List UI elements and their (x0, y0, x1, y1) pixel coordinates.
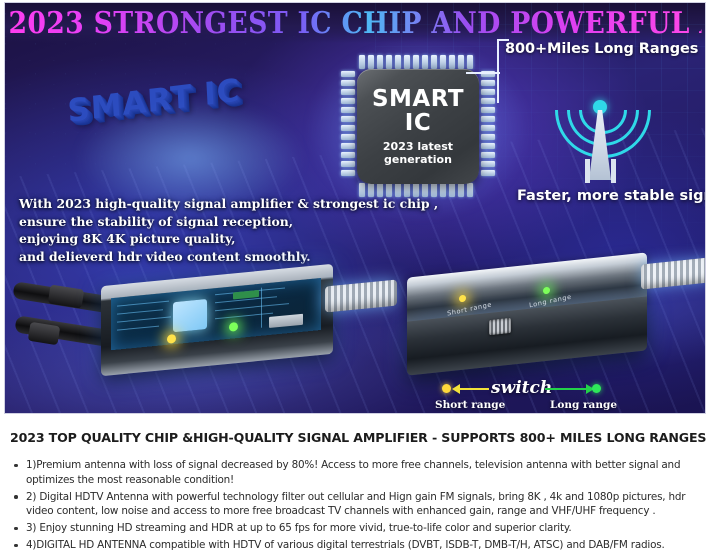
paragraph-line-4: and delieverd hdr video content smoothly… (19, 248, 419, 266)
circuit-board (111, 278, 321, 350)
switch-legend-title: switch (491, 378, 552, 398)
chip-pin-left (341, 143, 355, 149)
chip-pin-right (481, 98, 495, 104)
amplifier-device-with-switch: Short range Long range (403, 259, 703, 374)
chip-pin-top (422, 55, 428, 69)
chip-pin-right (481, 143, 495, 149)
legend-arrow-short-range (455, 388, 489, 390)
pcb-trace (261, 288, 262, 328)
chip-pin-top (458, 55, 464, 69)
f-type-coax-connector (641, 257, 706, 289)
chip-pin-top (440, 55, 446, 69)
chip-pin-top (386, 55, 392, 69)
chip-pin-bottom (467, 183, 473, 197)
status-led-yellow (167, 334, 176, 344)
hero-banner-image: 2023 STRONGEST IC CHIP AND POWERFUL AMPL… (4, 2, 706, 414)
chip-pin-right (481, 107, 495, 113)
chip-pin-right (481, 134, 495, 140)
miles-range-callout: 800+Miles Long Ranges (505, 41, 698, 57)
antenna-leg-left (585, 159, 590, 183)
chip-label-generation: generation (384, 153, 452, 166)
paragraph-line-3: enjoying 8K 4K picture quality, (19, 230, 419, 248)
chip-pin-right (481, 161, 495, 167)
legend-label-short-range: Short range (435, 399, 505, 411)
pcb-trace (117, 301, 169, 307)
smd-component-silver (269, 314, 303, 328)
pcb-trace (215, 313, 273, 320)
chip-pin-left (341, 89, 355, 95)
chip-pin-right (481, 125, 495, 131)
chip-pin-bottom (458, 183, 464, 197)
chip-body: SMART IC 2023 latest generation (357, 69, 479, 184)
list-item: 4)DIGITAL HD ANTENNA compatible with HDT… (26, 538, 696, 553)
chip-pin-left (341, 134, 355, 140)
amplifier-device-cutaway (13, 265, 403, 385)
chip-pin-right (481, 116, 495, 122)
amplifier-housing (101, 264, 333, 376)
legend-arrow-long-range (545, 388, 589, 390)
chip-pin-right (481, 170, 495, 176)
callout-bracket-leader (466, 72, 500, 74)
chip-pin-left (341, 170, 355, 176)
chip-pin-bottom (422, 183, 428, 197)
chip-label-ic: IC (405, 111, 431, 135)
chip-pin-top (467, 55, 473, 69)
chip-pin-left (341, 152, 355, 158)
f-type-coax-connector (325, 280, 397, 313)
list-item: 1)Premium antenna with loss of signal de… (26, 458, 696, 487)
legend-label-long-range: Long range (550, 399, 617, 411)
smart-ic-chip-graphic: SMART IC 2023 latest generation (335, 53, 500, 198)
legend-arrowhead-short-range-icon (452, 384, 460, 394)
chip-pin-left (341, 107, 355, 113)
cable-strain-relief-lower (28, 322, 61, 345)
onboard-ic-chip (173, 299, 207, 332)
legend-dot-short-range (442, 384, 451, 393)
chip-pin-top (449, 55, 455, 69)
faster-signal-caption: Faster, more stable signal (517, 188, 706, 204)
chip-pin-left (341, 80, 355, 86)
chip-pin-top (359, 55, 365, 69)
chip-pin-bottom (449, 183, 455, 197)
cable-strain-relief-upper (48, 284, 85, 308)
product-description-section: 2023 TOP QUALITY CHIP &HIGH-QUALITY SIGN… (0, 420, 710, 555)
paragraph-line-2: ensure the stability of signal reception… (19, 213, 419, 231)
chip-pin-right (481, 89, 495, 95)
chip-pin-right (481, 152, 495, 158)
paragraph-line-1: With 2023 high-quality signal amplifier … (19, 195, 419, 213)
section-heading: 2023 TOP QUALITY CHIP &HIGH-QUALITY SIGN… (10, 430, 710, 445)
chip-pin-left (341, 71, 355, 77)
product-banner-page: 2023 STRONGEST IC CHIP AND POWERFUL AMPL… (0, 2, 710, 540)
legend-dot-long-range (592, 384, 601, 393)
chip-pin-top (395, 55, 401, 69)
range-selector-switch[interactable] (489, 318, 511, 335)
chip-pin-top (404, 55, 410, 69)
chip-pin-left (341, 125, 355, 131)
antenna-leg-right (611, 159, 616, 183)
pcb-trace (117, 326, 159, 331)
chip-pin-right (481, 80, 495, 86)
chip-pin-left (341, 161, 355, 167)
hero-description-paragraph: With 2023 high-quality signal amplifier … (19, 195, 419, 265)
chip-pin-top (431, 55, 437, 69)
pcb-trace (117, 316, 171, 322)
antenna-tower-icon (545, 58, 655, 183)
chip-pin-bottom (431, 183, 437, 197)
chip-label-year: 2023 latest (383, 140, 453, 153)
chip-pin-top (413, 55, 419, 69)
chip-pin-left (341, 116, 355, 122)
list-item: 2) Digital HDTV Antenna with powerful te… (26, 490, 696, 519)
chip-pin-left (341, 98, 355, 104)
pcb-trace (215, 303, 289, 311)
list-item: 3) Enjoy stunning HD streaming and HDR a… (26, 521, 696, 536)
chip-pin-top (368, 55, 374, 69)
chip-pin-bottom (440, 183, 446, 197)
pcb-trace (117, 309, 163, 314)
chip-pin-top (377, 55, 383, 69)
status-led-green (229, 322, 238, 332)
feature-bullet-list: 1)Premium antenna with loss of signal de… (0, 458, 710, 553)
chip-label-smart: SMART (372, 88, 464, 111)
